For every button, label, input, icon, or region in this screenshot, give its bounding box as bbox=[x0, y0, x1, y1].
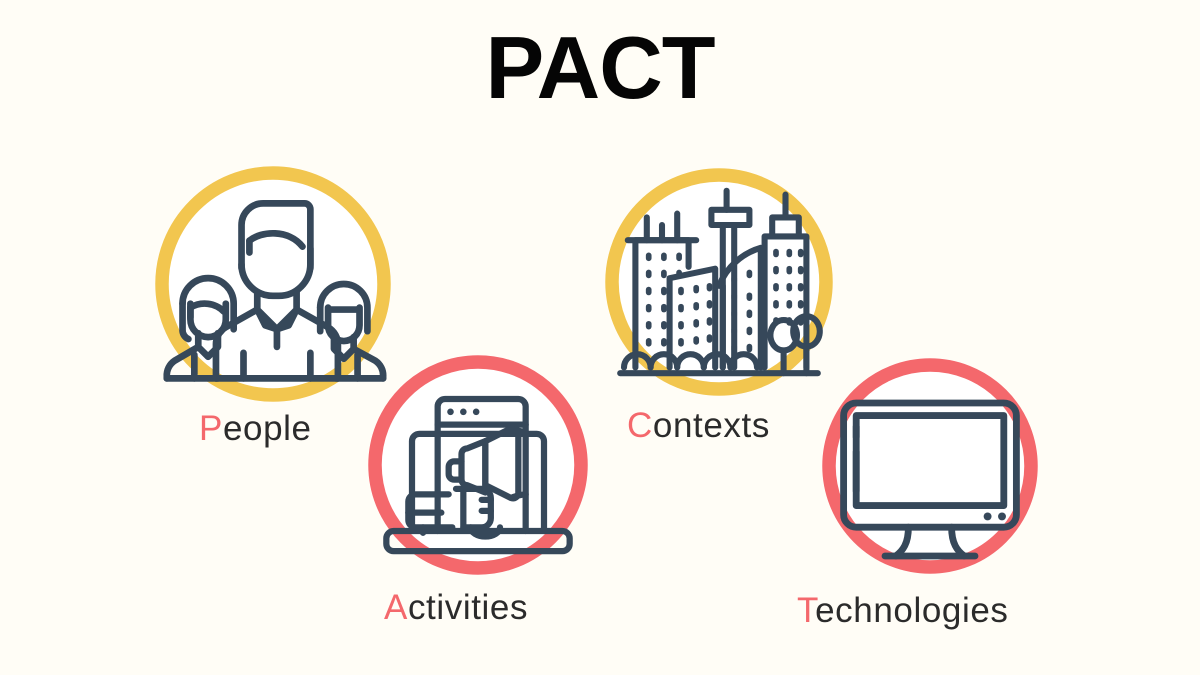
pact-item-people[interactable]: People bbox=[155, 166, 391, 402]
contexts-label-initial: C bbox=[627, 406, 653, 445]
pact-item-technologies[interactable]: Technologies bbox=[822, 358, 1038, 574]
contexts-label-rest: ontexts bbox=[653, 406, 770, 445]
cityscape-buildings-icon bbox=[605, 168, 833, 396]
desktop-monitor-icon bbox=[822, 358, 1038, 574]
pact-slide: PACT bbox=[0, 0, 1200, 675]
people-circle bbox=[155, 166, 391, 402]
activities-label-rest: ctivities bbox=[408, 588, 528, 627]
technologies-label: Technologies bbox=[797, 591, 1009, 631]
people-label: People bbox=[199, 409, 312, 449]
people-label-rest: eople bbox=[223, 409, 312, 448]
contexts-label: Contexts bbox=[627, 406, 770, 446]
technologies-circle bbox=[822, 358, 1038, 574]
people-label-initial: P bbox=[199, 409, 223, 448]
activities-label: Activities bbox=[384, 588, 528, 628]
activities-label-initial: A bbox=[384, 588, 408, 627]
pact-item-activities[interactable]: Activities bbox=[368, 355, 588, 575]
contexts-circle bbox=[605, 168, 833, 396]
page-title: PACT bbox=[0, 22, 1200, 114]
pact-item-contexts[interactable]: Contexts bbox=[605, 168, 833, 396]
technologies-label-rest: echnologies bbox=[815, 591, 1008, 630]
activities-circle bbox=[368, 355, 588, 575]
group-of-people-icon bbox=[155, 166, 391, 402]
hand-megaphone-laptop-icon bbox=[368, 355, 588, 575]
technologies-label-initial: T bbox=[797, 591, 815, 630]
